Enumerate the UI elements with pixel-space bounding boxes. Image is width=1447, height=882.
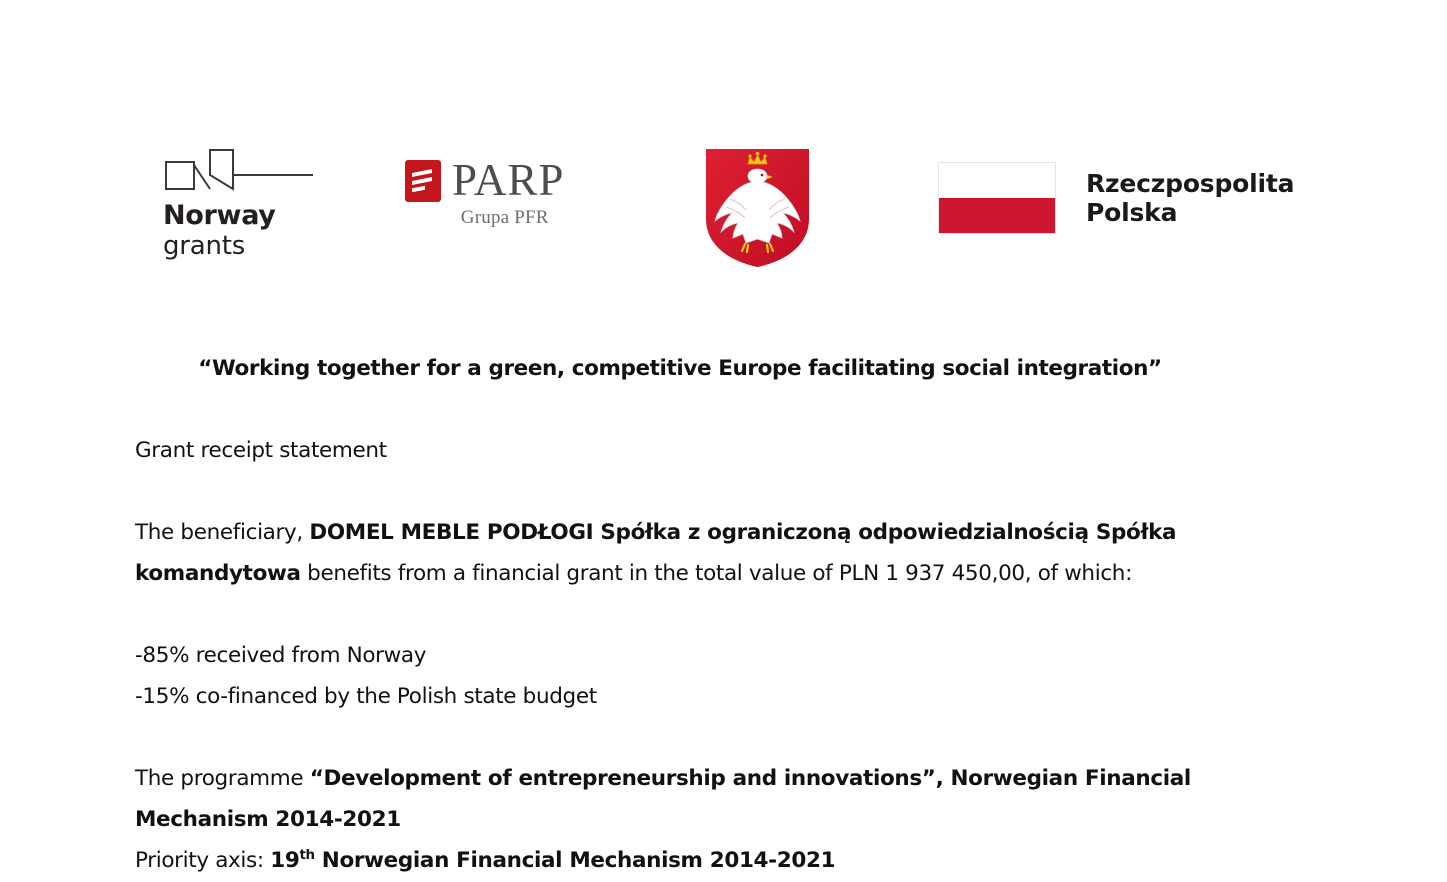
programme-lead: The programme bbox=[135, 766, 310, 791]
polish-flag-icon bbox=[938, 162, 1056, 234]
parp-logo-row: PARP bbox=[405, 158, 564, 203]
priority-axis-number: 19 bbox=[270, 848, 299, 873]
rzeczpospolita-polska-logo: Rzeczpospolita Polska bbox=[938, 162, 1294, 234]
statement-title: Grant receipt statement bbox=[135, 430, 1315, 471]
norway-grants-wordmark: Norway bbox=[163, 202, 363, 230]
rzeczpospolita-polska-row: Rzeczpospolita Polska bbox=[938, 162, 1294, 234]
parp-wordmark: PARP bbox=[452, 158, 564, 203]
rp-line-2: Polska bbox=[1086, 198, 1294, 228]
beneficiary-lead: The beneficiary, bbox=[135, 520, 309, 545]
priority-axis-ordinal: th bbox=[300, 848, 315, 863]
document-body: “Working together for a green, competiti… bbox=[135, 348, 1315, 881]
priority-axis-paragraph: Priority axis: 19th Norwegian Financial … bbox=[135, 840, 1315, 881]
parp-badge-icon bbox=[405, 160, 441, 202]
funding-line-poland: -15% co-financed by the Polish state bud… bbox=[135, 676, 1315, 717]
rzeczpospolita-polska-wordmark: Rzeczpospolita Polska bbox=[1086, 169, 1294, 228]
norway-grants-logo: Norway grants bbox=[163, 148, 363, 263]
programme-paragraph: The programme “Development of entreprene… bbox=[135, 758, 1315, 840]
beneficiary-paragraph: The beneficiary, DOMEL MEBLE PODŁOGI Spó… bbox=[135, 512, 1315, 594]
parp-logo: PARP Grupa PFR bbox=[405, 158, 564, 229]
norway-grants-subword: grants bbox=[163, 230, 363, 263]
norway-grants-mark-icon bbox=[163, 148, 313, 193]
funding-line-norway: -85% received from Norway bbox=[135, 635, 1315, 676]
polish-coat-of-arms-icon bbox=[700, 145, 815, 275]
rp-line-1: Rzeczpospolita bbox=[1086, 169, 1294, 199]
priority-axis-rest: Norwegian Financial Mechanism 2014-2021 bbox=[315, 848, 836, 873]
beneficiary-tail: benefits from a financial grant in the t… bbox=[301, 561, 1132, 586]
priority-axis-lead: Priority axis: bbox=[135, 848, 270, 873]
parp-subtitle: Grupa PFR bbox=[445, 207, 564, 229]
document-page: { "logos": { "norway": { "name": "norway… bbox=[0, 0, 1447, 882]
programme-motto: “Working together for a green, competiti… bbox=[130, 348, 1230, 389]
logo-bar: Norway grants PARP Grupa PFR bbox=[0, 140, 1447, 280]
